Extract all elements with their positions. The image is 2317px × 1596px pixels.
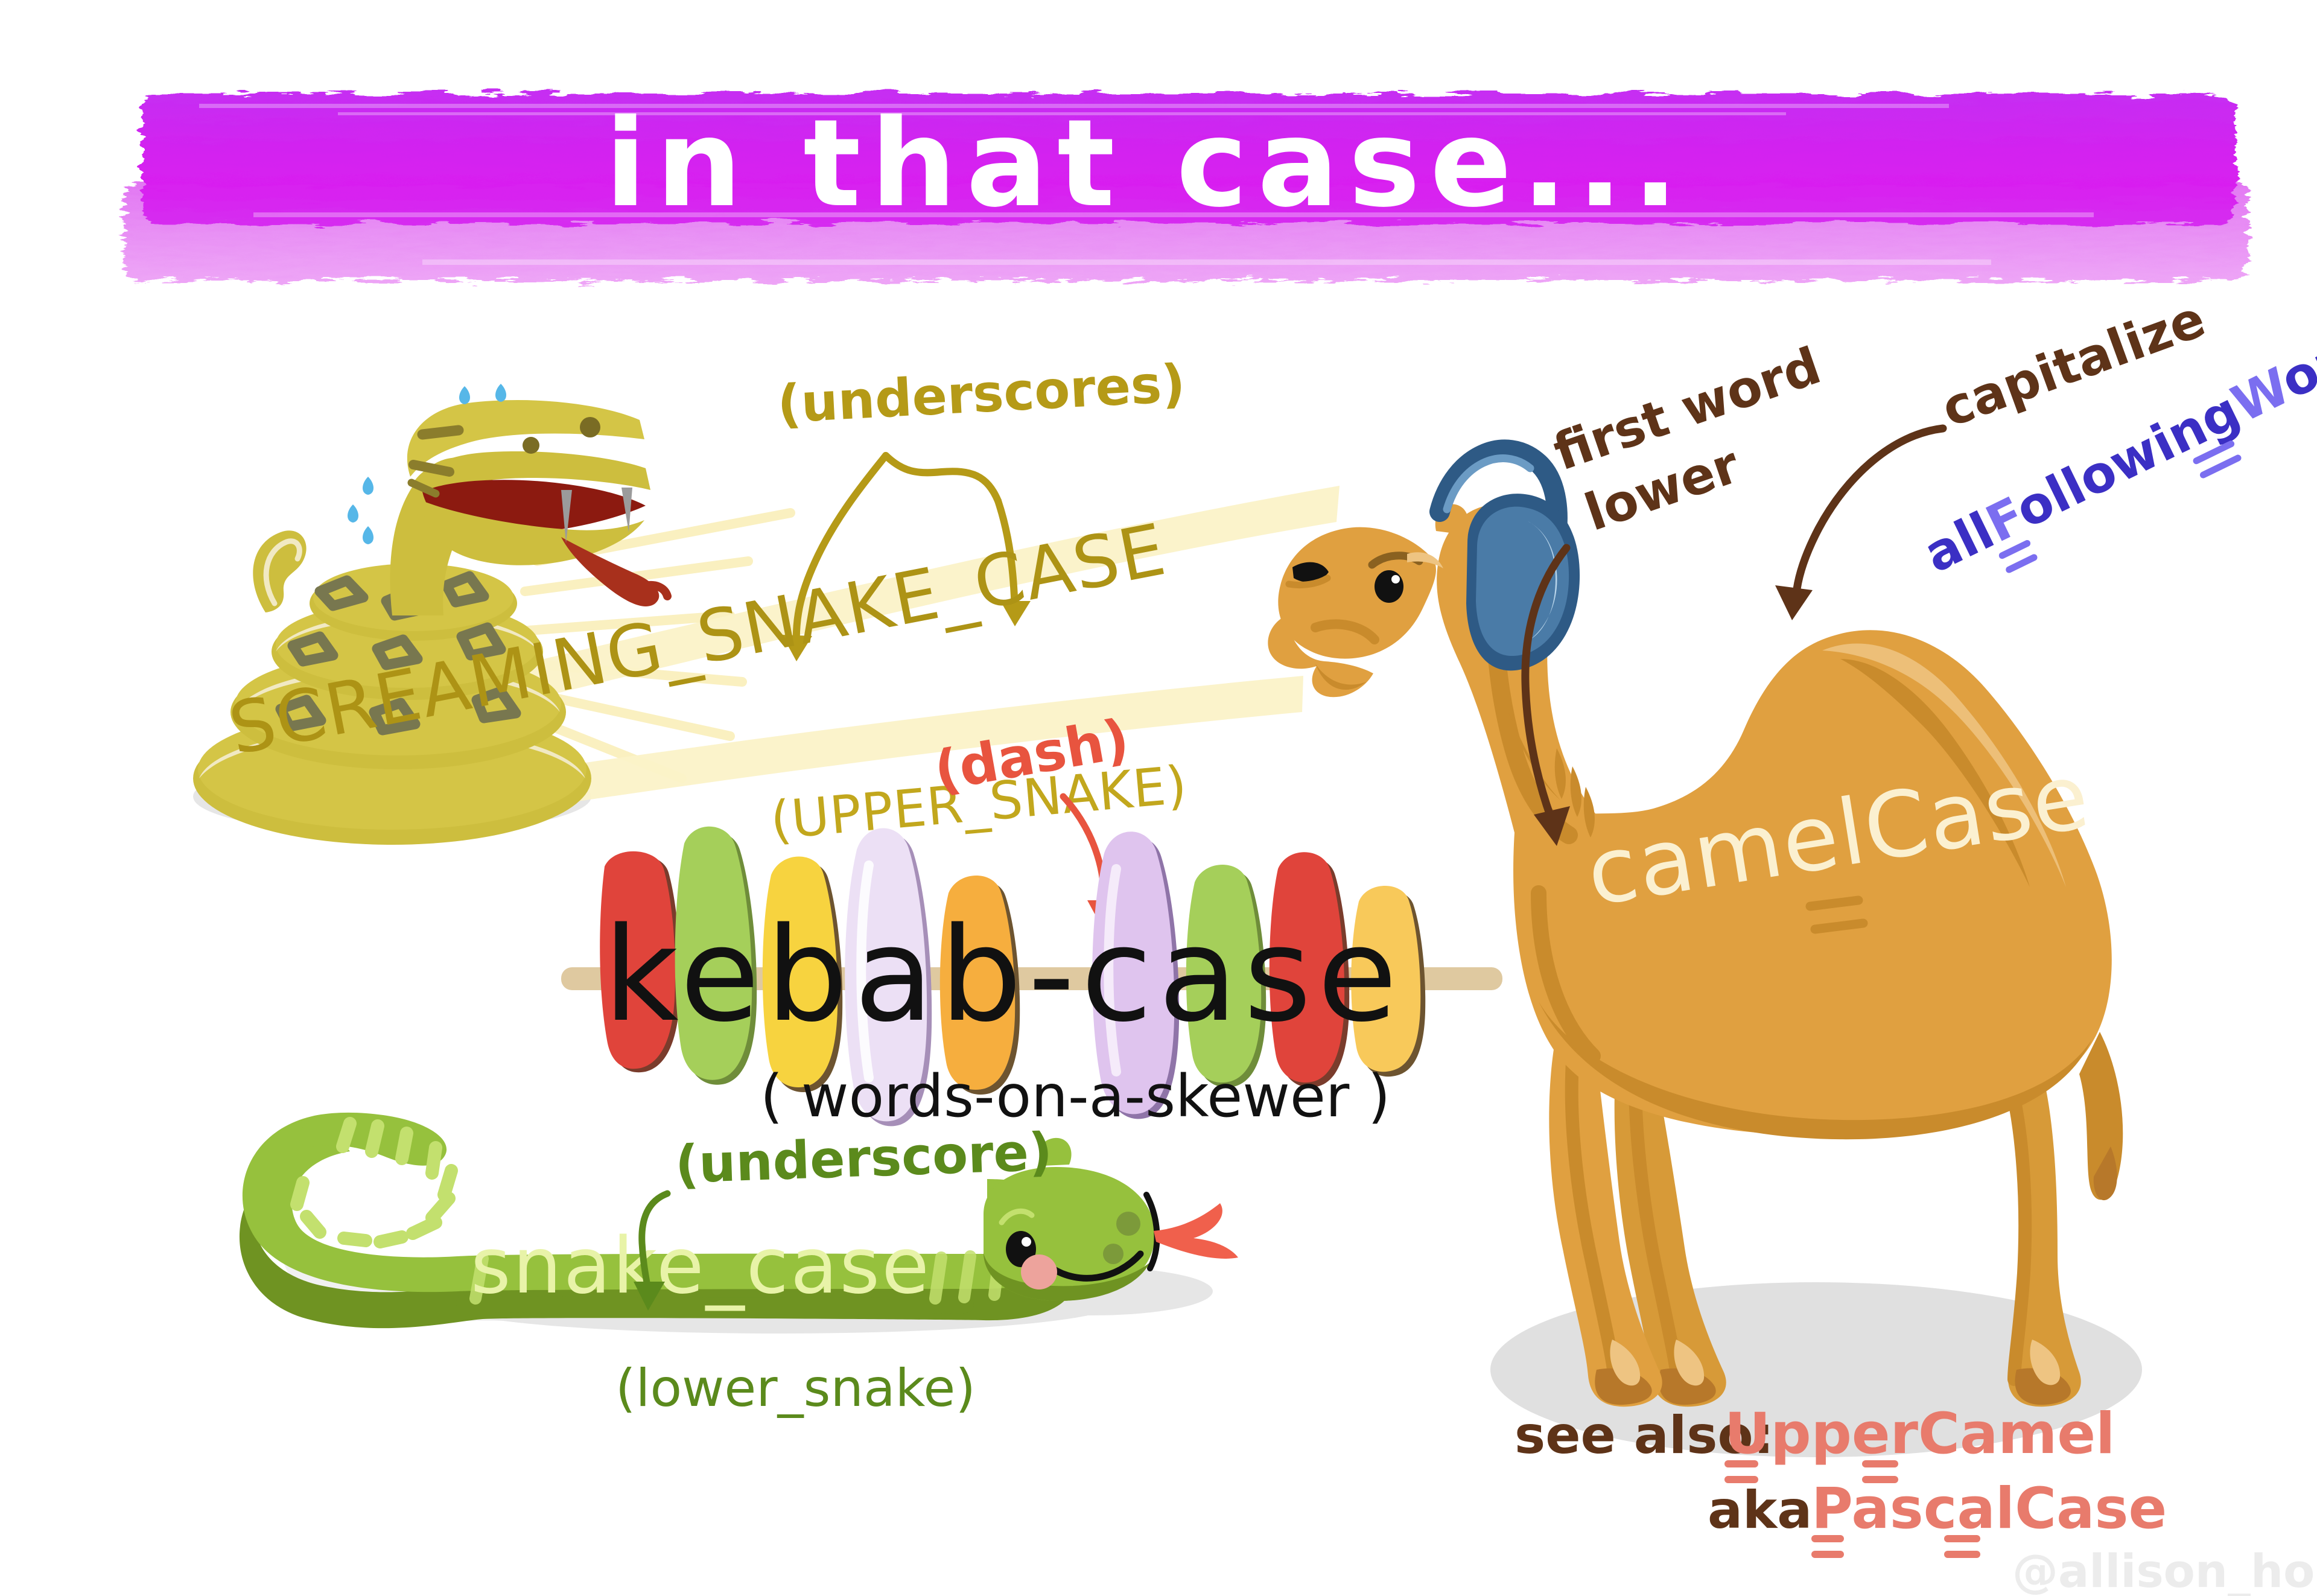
footer-notes: see also: UpperCamel aka PascalCase @all… [1496,1388,2317,1596]
title-banner: in that case... [0,0,2317,314]
watermark: @allison_horst [2012,1544,2317,1596]
see-also-value: UpperCamel [1724,1401,2115,1467]
label-snake-case: snake_case [471,1221,931,1311]
annotation-underscores: (underscores) [776,354,1187,435]
aka-label: aka [1708,1480,1812,1540]
annotation-capitalize: capitalize allFollowingWords [1775,289,2317,620]
capitalize-arrow-head [1775,585,1813,620]
camel-mascot [1268,450,2123,1407]
case-group-snake: snake_case (underscore) (lower_snake) [199,1104,1297,1490]
alias-lower-snake: (lower_snake) [615,1358,976,1419]
illustration-canvas: in that case... [0,0,2317,1596]
capitalize-arrow-line [1797,428,1943,589]
aka-value: PascalCase [1811,1476,2167,1542]
case-group-camel: camelCase first word lower capitalize [1255,290,2317,1527]
title-text: in that case... [605,94,1688,234]
